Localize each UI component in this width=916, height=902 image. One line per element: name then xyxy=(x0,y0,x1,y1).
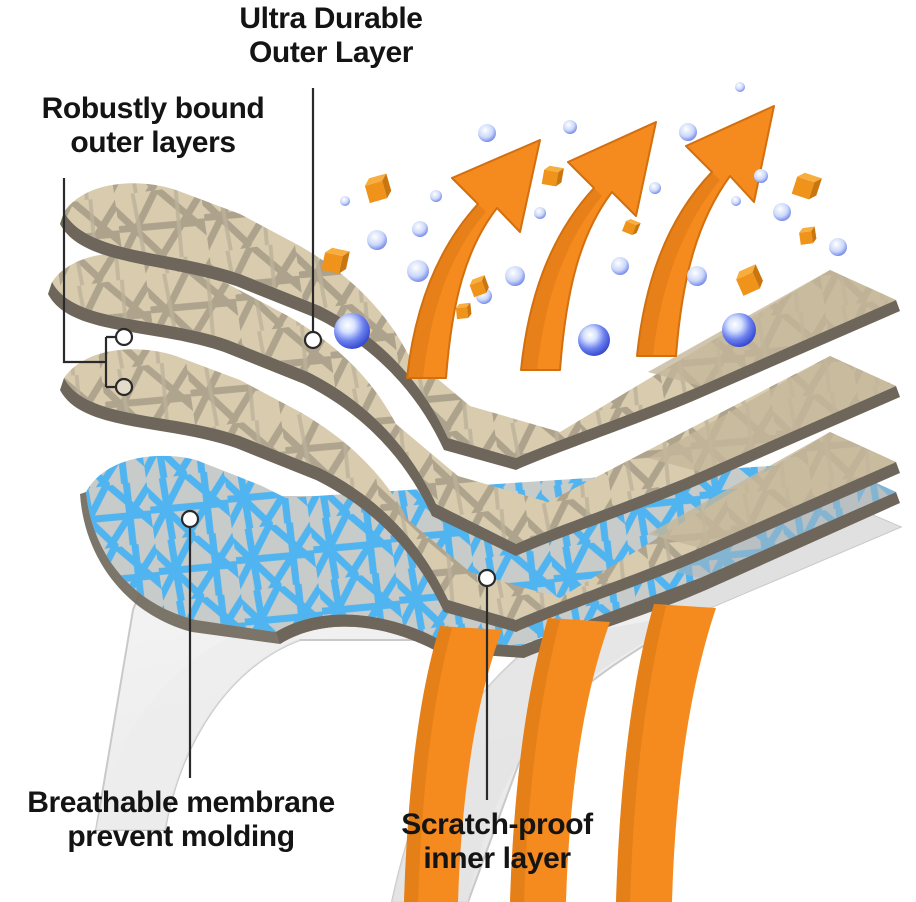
label-breathable-membrane: Breathable membrane prevent molding xyxy=(6,786,356,854)
label-ultra-durable-outer-layer: Ultra Durable Outer Layer xyxy=(186,2,476,70)
label-robustly-bound-outer-layers: Robustly bound outer layers xyxy=(8,92,298,160)
label-scratch-proof-inner-layer: Scratch-proof inner layer xyxy=(364,808,630,876)
infographic-canvas: Ultra Durable Outer Layer Robustly bound… xyxy=(0,0,916,902)
